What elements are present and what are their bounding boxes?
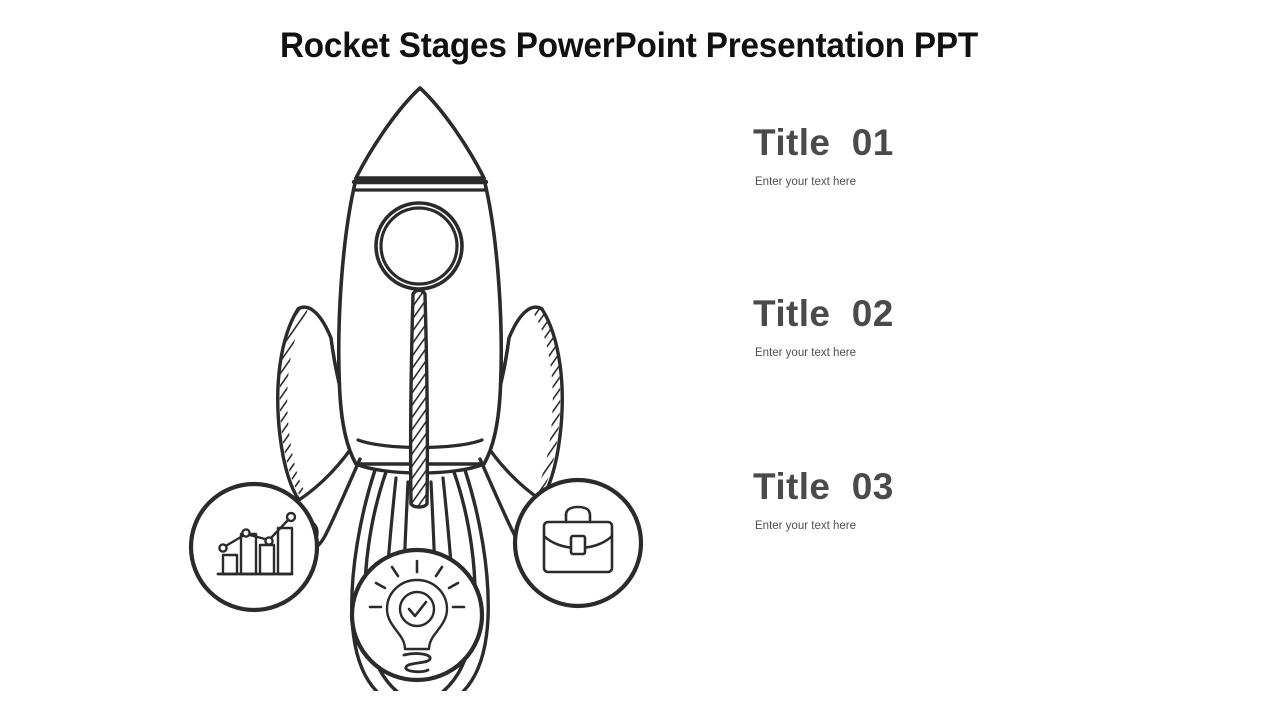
stage-title-3: Title 03: [753, 464, 1173, 510]
stage-description-2: Enter your text here: [755, 345, 1173, 361]
porthole-window: [376, 203, 462, 289]
icon-circle-bar-chart: [191, 484, 317, 610]
stage-title-2: Title 02: [753, 291, 1173, 337]
stage-block-1[interactable]: Title 01 Enter your text here: [753, 120, 1173, 190]
slide-canvas: Rocket Stages PowerPoint Presentation PP…: [0, 0, 1280, 720]
stage-description-3: Enter your text here: [755, 518, 1173, 534]
icon-circle-lightbulb: [352, 550, 482, 680]
icon-circle-briefcase: [515, 480, 641, 606]
stage-block-2[interactable]: Title 02 Enter your text here: [753, 291, 1173, 361]
nose-cone: [356, 88, 484, 178]
page-title: Rocket Stages PowerPoint Presentation PP…: [31, 24, 1226, 68]
center-fin: [411, 290, 428, 507]
stage-title-1: Title 01: [753, 120, 1173, 166]
stage-description-1: Enter your text here: [755, 174, 1173, 190]
stage-block-3[interactable]: Title 03 Enter your text here: [753, 464, 1173, 534]
rocket-illustration: [170, 66, 670, 691]
